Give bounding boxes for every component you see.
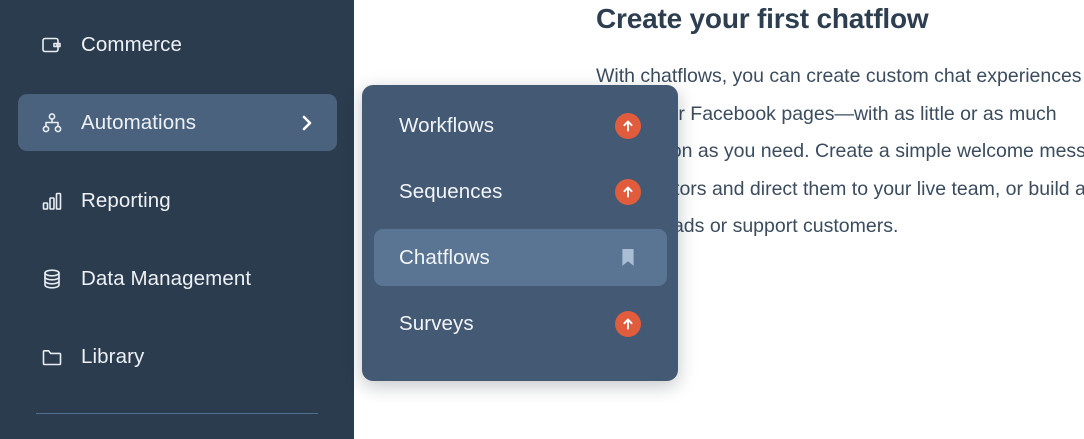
sidebar-item-label: Library [81, 345, 144, 369]
upgrade-arrow-badge [615, 179, 641, 205]
wallet-icon [39, 32, 65, 58]
sidebar-item-label: Automations [81, 111, 196, 135]
sidebar-divider [36, 413, 318, 414]
bookmark-glyph [619, 247, 637, 269]
bar-chart-icon [39, 188, 65, 214]
submenu-item-sequences[interactable]: Sequences [374, 163, 667, 220]
sidebar-item-data-management[interactable]: Data Management [18, 250, 337, 307]
sidebar-item-reporting[interactable]: Reporting [18, 172, 337, 229]
sidebar-item-automations[interactable]: Automations [18, 94, 337, 151]
submenu-item-label: Sequences [399, 180, 502, 204]
submenu-item-surveys[interactable]: Surveys [374, 295, 667, 352]
page-title: Create your first chatflow [596, 0, 1084, 35]
submenu-item-chatflows[interactable]: Chatflows [374, 229, 667, 286]
upgrade-arrow-icon[interactable] [615, 113, 641, 139]
chevron-right-icon[interactable] [299, 113, 315, 133]
upgrade-arrow-icon[interactable] [615, 179, 641, 205]
upgrade-arrow-badge [615, 311, 641, 337]
upgrade-arrow-icon[interactable] [615, 311, 641, 337]
submenu-item-workflows[interactable]: Workflows [374, 97, 667, 154]
sidebar-item-label: Data Management [81, 267, 251, 291]
primary-sidebar: Commerce Automations [0, 0, 354, 439]
sidebar-item-label: Commerce [81, 33, 182, 57]
hierarchy-icon [39, 110, 65, 136]
sidebar-item-commerce[interactable]: Commerce [18, 16, 337, 73]
bookmark-icon[interactable] [615, 245, 641, 271]
automations-submenu-panel: Workflows Sequences [362, 85, 678, 381]
submenu-item-label: Chatflows [399, 246, 490, 270]
database-icon [39, 266, 65, 292]
upgrade-arrow-badge [615, 113, 641, 139]
app-root: Commerce Automations [0, 0, 1084, 439]
submenu-item-label: Workflows [399, 114, 494, 138]
sidebar-nav-list: Commerce Automations [0, 16, 354, 406]
folder-icon [39, 344, 65, 370]
submenu-item-label: Surveys [399, 312, 474, 336]
sidebar-item-library[interactable]: Library [18, 328, 337, 385]
sidebar-item-label: Reporting [81, 189, 171, 213]
